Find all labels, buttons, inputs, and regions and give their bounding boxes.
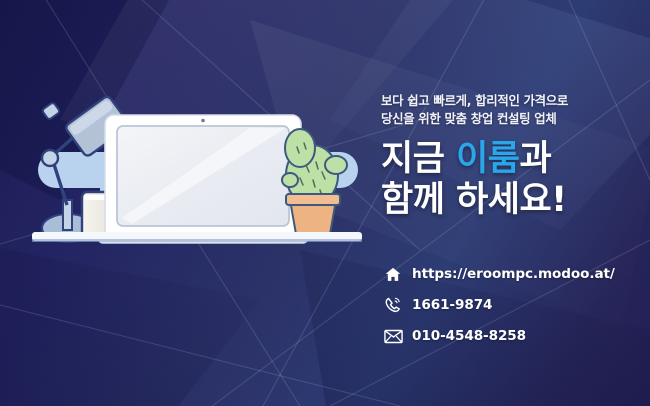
phone-number[interactable]: 1661-9874 <box>412 297 492 313</box>
home-icon <box>384 264 406 284</box>
headline-line-1: 지금 이룸과 <box>381 139 643 180</box>
phone-icon <box>384 295 406 315</box>
headline-pre: 지금 <box>381 139 456 179</box>
contact-row-phone[interactable]: 1661-9874 <box>384 291 615 319</box>
envelope-icon <box>384 326 406 346</box>
workspace-illustration <box>0 0 380 406</box>
subtitle-line-2: 당신을 위한 맞춤 창업 컨설팅 업체 <box>381 110 643 128</box>
contact-row-mobile[interactable]: 010-4548-8258 <box>384 322 615 350</box>
copy-block: 보다 쉽고 빠르게, 합리적인 가격으로 당신을 위한 맞춤 창업 컨설팅 업체… <box>381 92 643 221</box>
headline-line-2: 함께 하세요! <box>381 180 643 221</box>
headline-post: 과 <box>520 139 552 179</box>
contact-list: https://eroompc.modoo.at/ 1661-9874 <box>384 260 615 353</box>
promo-banner: 보다 쉽고 빠르게, 합리적인 가격으로 당신을 위한 맞춤 창업 컨설팅 업체… <box>0 0 650 406</box>
website-url[interactable]: https://eroompc.modoo.at/ <box>412 266 615 282</box>
laptop <box>98 115 308 243</box>
desk-surface <box>32 232 362 242</box>
subtitle-line-1: 보다 쉽고 빠르게, 합리적인 가격으로 <box>381 92 643 110</box>
brand-name: 이룸 <box>456 139 519 179</box>
mobile-number[interactable]: 010-4548-8258 <box>412 328 526 344</box>
headline: 지금 이룸과 함께 하세요! <box>381 139 643 221</box>
contact-row-website[interactable]: https://eroompc.modoo.at/ <box>384 260 615 288</box>
